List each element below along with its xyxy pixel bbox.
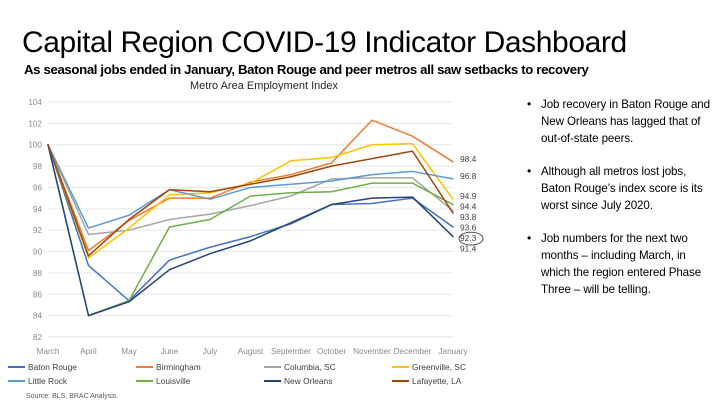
commentary-bullets: •Job recovery in Baton Rouge and New Orl… (527, 96, 717, 314)
chart-plot-area: 828486889092949698100102104MarchAprilMay… (8, 94, 520, 374)
legend-label: Greenville, SC (412, 362, 466, 372)
legend-row: Baton RougeBirminghamColumbia, SCGreenvi… (8, 362, 520, 372)
legend-label: Little Rock (28, 376, 67, 386)
chart-legend: Baton RougeBirminghamColumbia, SCGreenvi… (8, 362, 520, 390)
y-axis-tick: 86 (33, 290, 43, 299)
legend-item[interactable]: Birmingham (136, 362, 264, 372)
bullet-item: •Although all metros lost jobs, Baton Ro… (527, 163, 717, 214)
x-axis-tick: October (317, 347, 346, 356)
legend-color-swatch (264, 380, 281, 382)
y-axis-tick: 88 (33, 269, 43, 278)
legend-color-swatch (136, 380, 153, 382)
legend-color-swatch (8, 380, 25, 382)
series-end-label: 91.4 (460, 244, 477, 254)
legend-item[interactable]: New Orleans (264, 376, 392, 386)
legend-label: Baton Rouge (28, 362, 77, 372)
bullet-marker-icon: • (527, 96, 541, 147)
chart-series-line (48, 145, 453, 228)
legend-label: Louisville (156, 376, 190, 386)
page-subtitle: As seasonal jobs ended in January, Baton… (24, 62, 588, 78)
legend-item[interactable]: Little Rock (8, 376, 136, 386)
bullet-item: •Job recovery in Baton Rouge and New Orl… (527, 96, 717, 147)
x-axis-tick: August (238, 347, 264, 356)
x-axis-tick: December (394, 347, 432, 356)
page-title: Capital Region COVID-19 Indicator Dashbo… (22, 26, 627, 60)
y-axis-tick: 82 (33, 333, 43, 342)
series-end-label: 92.3 (460, 233, 477, 243)
x-axis-tick: May (121, 347, 137, 356)
legend-color-swatch (392, 380, 409, 382)
y-axis-tick: 94 (33, 205, 43, 214)
series-end-label: 94.4 (460, 202, 477, 212)
legend-item[interactable]: Greenville, SC (392, 362, 520, 372)
x-axis-tick: June (161, 347, 179, 356)
slide-root: Capital Region COVID-19 Indicator Dashbo… (0, 0, 725, 411)
chart-series-line (48, 120, 453, 250)
legend-color-swatch (8, 366, 25, 368)
series-end-label: 93.8 (460, 212, 477, 222)
y-axis-tick: 104 (28, 98, 42, 107)
source-note: Source: BLS, BRAC Analysis. (26, 393, 118, 400)
bullet-marker-icon: • (527, 163, 541, 214)
legend-label: New Orleans (284, 376, 332, 386)
y-axis-tick: 98 (33, 162, 43, 171)
legend-item[interactable]: Columbia, SC (264, 362, 392, 372)
y-axis-tick: 100 (28, 141, 42, 150)
legend-color-swatch (264, 366, 281, 368)
bullet-item: •Job numbers for the next two months – i… (527, 230, 717, 298)
legend-label: Lafayette, LA (412, 376, 461, 386)
legend-row: Little RockLouisvilleNew OrleansLafayett… (8, 376, 520, 386)
y-axis-tick: 90 (33, 248, 43, 257)
x-axis-tick: July (203, 347, 218, 356)
chart-series-line (48, 145, 453, 301)
legend-color-swatch (136, 366, 153, 368)
legend-item[interactable]: Louisville (136, 376, 264, 386)
chart-title: Metro Area Employment Index (8, 80, 520, 92)
bullet-text: Job recovery in Baton Rouge and New Orle… (541, 96, 717, 147)
employment-index-chart: Metro Area Employment Index 828486889092… (8, 80, 520, 400)
y-axis-tick: 102 (28, 119, 42, 128)
x-axis-tick: November (353, 347, 391, 356)
bullet-marker-icon: • (527, 230, 541, 298)
series-end-label: 93.6 (460, 223, 477, 233)
x-axis-tick: March (37, 347, 60, 356)
bullet-text: Job numbers for the next two months – in… (541, 230, 717, 298)
legend-item[interactable]: Lafayette, LA (392, 376, 520, 386)
legend-label: Columbia, SC (284, 362, 336, 372)
legend-color-swatch (392, 366, 409, 368)
y-axis-tick: 92 (33, 226, 43, 235)
series-end-label: 98.4 (460, 154, 477, 164)
legend-label: Birmingham (156, 362, 201, 372)
x-axis-tick: April (80, 347, 97, 356)
y-axis-tick: 96 (33, 183, 43, 192)
x-axis-tick: September (271, 347, 311, 356)
x-axis-tick: January (438, 347, 468, 356)
legend-item[interactable]: Baton Rouge (8, 362, 136, 372)
series-end-label: 94.9 (460, 191, 477, 201)
bullet-text: Although all metros lost jobs, Baton Rou… (541, 163, 717, 214)
series-end-label: 96.8 (460, 171, 477, 181)
y-axis-tick: 84 (33, 312, 43, 321)
